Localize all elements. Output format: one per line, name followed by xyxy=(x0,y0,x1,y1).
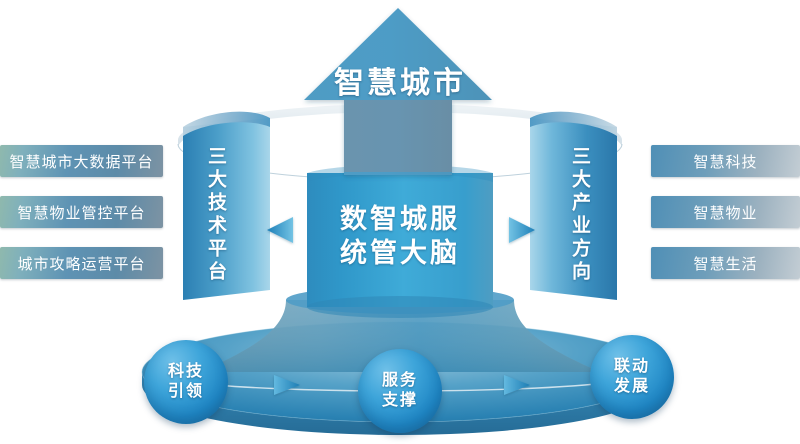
base-node-1-line1: 服务 xyxy=(382,371,418,391)
left-item-2[interactable]: 城市攻略运营平台 xyxy=(0,247,163,279)
arrow-shaft xyxy=(344,100,452,172)
base-node-2[interactable]: 联动 发展 xyxy=(590,335,674,419)
left-item-1[interactable]: 智慧物业管控平台 xyxy=(0,196,163,228)
base-node-1-line2: 支撑 xyxy=(382,391,418,411)
right-item-0[interactable]: 智慧科技 xyxy=(651,145,800,177)
base-node-0[interactable]: 科技 引领 xyxy=(144,340,228,424)
core-panel xyxy=(307,173,493,307)
drum-right-panel xyxy=(530,118,617,300)
triangle-left-icon xyxy=(267,217,293,243)
right-item-2[interactable]: 智慧生活 xyxy=(651,247,800,279)
base-node-1[interactable]: 服务 支撑 xyxy=(358,349,442,433)
base-node-0-line2: 引领 xyxy=(168,382,204,402)
drum-left-panel xyxy=(183,118,270,300)
base-node-2-line1: 联动 xyxy=(614,357,650,377)
base-node-2-line2: 发展 xyxy=(614,377,650,397)
base-node-0-line1: 科技 xyxy=(168,362,204,382)
right-item-1[interactable]: 智慧物业 xyxy=(651,196,800,228)
left-item-0[interactable]: 智慧城市大数据平台 xyxy=(0,145,163,177)
smart-city-diagram: 智慧城市 数智城服 统管大脑 三大技术平台 三大产业方向 智慧城市大数据平台 智… xyxy=(0,0,800,444)
